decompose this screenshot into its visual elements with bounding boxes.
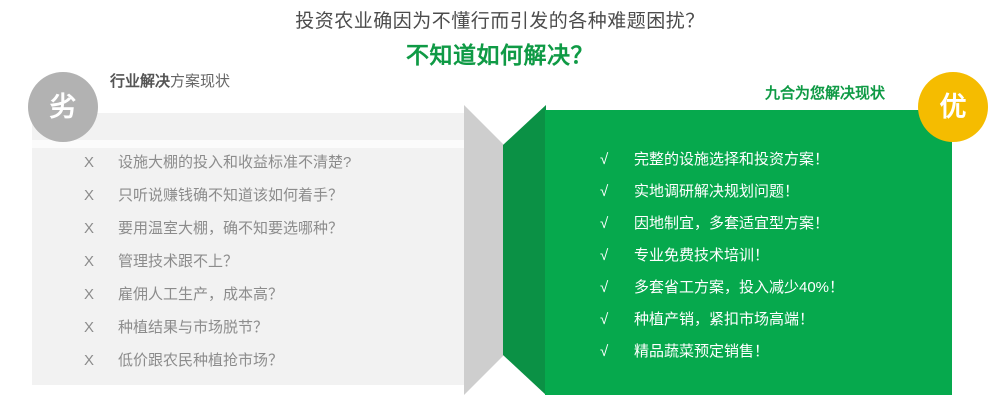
circle-badge-good-icon: 优 — [918, 72, 988, 142]
list-item: √精品蔬菜预定销售！ — [600, 336, 940, 368]
headline-block: 投资农业确因为不懂行而引发的各种难题困扰？ 不知道如何解决？ — [0, 8, 1000, 72]
check-mark-icon: √ — [600, 240, 634, 272]
list-item: X低价跟农民种植抢市场？ — [84, 344, 454, 377]
check-mark-icon: √ — [600, 272, 634, 304]
list-item-label: 实地调研解决规划问题！ — [634, 176, 799, 208]
list-item: X只听说赚钱确不知道该如何着手？ — [84, 179, 454, 212]
badge-good-label: 优 — [940, 94, 967, 121]
check-mark-icon: √ — [600, 304, 634, 336]
problems-list: X设施大棚的投入和收益标准不清楚? X只听说赚钱确不知道该如何着手？ X要用温室… — [84, 146, 454, 377]
list-item: X雇佣人工生产，成本高？ — [84, 278, 454, 311]
solutions-list: √完整的设施选择和投资方案！ √实地调研解决规划问题！ √因地制宜，多套适宜型方… — [600, 144, 940, 368]
list-item: X种植结果与市场脱节？ — [84, 311, 454, 344]
list-item: √因地制宜，多套适宜型方案！ — [600, 208, 940, 240]
left-caption-emphasis: 行业解决 — [110, 73, 170, 90]
ribbon-fold-green — [503, 105, 546, 395]
list-item-label: 只听说赚钱确不知道该如何着手？ — [118, 179, 343, 212]
headline-line-2: 不知道如何解决？ — [0, 38, 1000, 72]
check-mark-icon: √ — [600, 208, 634, 240]
list-item-label: 完整的设施选择和投资方案！ — [634, 144, 829, 176]
list-item-label: 种植产销，紧扣市场高端！ — [634, 304, 814, 336]
list-item: X管理技术跟不上？ — [84, 245, 454, 278]
list-item-label: 雇佣人工生产，成本高？ — [118, 278, 283, 311]
list-item-label: 多套省工方案，投入减少40%！ — [634, 272, 844, 304]
list-item: √专业免费技术培训！ — [600, 240, 940, 272]
cross-mark-icon: X — [84, 179, 118, 212]
left-section-caption: 行业解决方案现状 — [110, 72, 230, 92]
list-item: √完整的设施选择和投资方案！ — [600, 144, 940, 176]
list-item-label: 管理技术跟不上？ — [118, 245, 238, 278]
list-item: X要用温室大棚，确不知要选哪种？ — [84, 212, 454, 245]
right-section-caption: 九合为您解决现状 — [765, 84, 885, 104]
list-item: √多套省工方案，投入减少40%！ — [600, 272, 940, 304]
check-mark-icon: √ — [600, 176, 634, 208]
left-caption-rest: 方案现状 — [170, 73, 230, 90]
circle-badge-bad-icon: 劣 — [28, 72, 98, 142]
list-item: √实地调研解决规划问题！ — [600, 176, 940, 208]
check-mark-icon: √ — [600, 336, 634, 368]
cross-mark-icon: X — [84, 278, 118, 311]
list-item: √种植产销，紧扣市场高端！ — [600, 304, 940, 336]
cross-mark-icon: X — [84, 212, 118, 245]
list-item-label: 低价跟农民种植抢市场？ — [118, 344, 283, 377]
list-item-label: 要用温室大棚，确不知要选哪种？ — [118, 212, 343, 245]
headline-line-1: 投资农业确因为不懂行而引发的各种难题困扰？ — [0, 8, 1000, 36]
list-item-label: 种植结果与市场脱节？ — [118, 311, 268, 344]
comparison-infographic: 投资农业确因为不懂行而引发的各种难题困扰？ 不知道如何解决？ 劣 优 行业解决方… — [0, 0, 1000, 416]
cross-mark-icon: X — [84, 245, 118, 278]
check-mark-icon: √ — [600, 144, 634, 176]
ribbon-fold-gray — [464, 105, 504, 395]
cross-mark-icon: X — [84, 311, 118, 344]
badge-bad-label: 劣 — [50, 94, 77, 121]
list-item-label: 精品蔬菜预定销售！ — [634, 336, 769, 368]
list-item-label: 因地制宜，多套适宜型方案！ — [634, 208, 829, 240]
list-item-label: 设施大棚的投入和收益标准不清楚? — [118, 146, 351, 179]
cross-mark-icon: X — [84, 146, 118, 179]
cross-mark-icon: X — [84, 344, 118, 377]
list-item-label: 专业免费技术培训！ — [634, 240, 769, 272]
list-item: X设施大棚的投入和收益标准不清楚? — [84, 146, 454, 179]
